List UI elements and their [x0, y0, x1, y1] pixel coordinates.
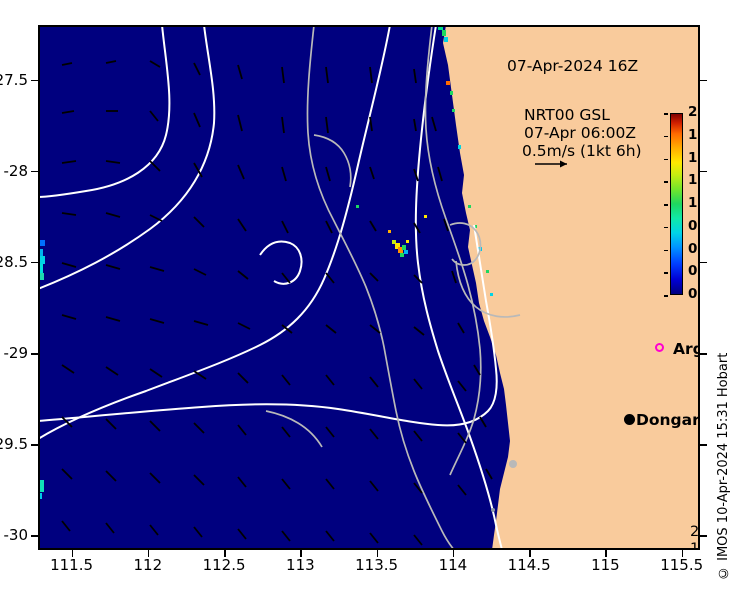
x-tick-label: 112 — [113, 556, 183, 574]
x-tick-label: 112.5 — [189, 556, 259, 574]
dongara-marker-icon — [624, 414, 635, 425]
colorbar-tick — [664, 181, 668, 183]
gsl-time-label: 07-Apr 06:00Z — [524, 124, 636, 142]
x-tick-label: 115 — [570, 556, 640, 574]
y-tick-right — [700, 353, 707, 355]
colorbar-tick — [664, 295, 668, 297]
y-tick — [31, 535, 38, 537]
plot-frame-bottom — [38, 548, 700, 550]
date-stamp: 07-Apr-2024 16Z — [507, 57, 638, 75]
y-tick-label: -28 — [0, 162, 28, 180]
colorbar-gradient — [670, 113, 683, 295]
obs-dot — [491, 508, 495, 512]
y-tick-label: -28.5 — [0, 253, 28, 271]
colorbar-tick — [664, 227, 668, 229]
colorbar-tick — [664, 136, 668, 138]
y-tick-right — [700, 171, 707, 173]
gsl-product-label: NRT00 GSL — [524, 106, 610, 124]
sst-age-map[interactable]: 07-Apr-2024 16Z NRT00 GSL 07-Apr 06:00Z … — [38, 25, 700, 550]
x-tick-label: 115.5 — [647, 556, 717, 574]
y-tick — [31, 262, 38, 264]
colorbar-tick-label: 1 — [688, 195, 697, 211]
vector-scale-arrow-icon — [535, 157, 575, 171]
colorbar-tick — [664, 159, 668, 161]
plot-frame-left — [38, 25, 40, 550]
x-tick-label: 114.5 — [494, 556, 564, 574]
y-tick — [31, 353, 38, 355]
argo-legend-label: Argo — [673, 340, 700, 358]
colorbar-tick-label: 0 — [688, 286, 697, 302]
y-tick-right — [700, 80, 707, 82]
map-graphics — [38, 25, 700, 550]
x-tick-label: 113 — [265, 556, 335, 574]
x-tick-label: 111.5 — [37, 556, 107, 574]
argo-marker-icon — [655, 343, 664, 352]
plot-frame-right — [698, 25, 700, 550]
y-tick-label: -29.5 — [0, 435, 28, 453]
y-tick — [31, 171, 38, 173]
colorbar-tick — [664, 272, 668, 274]
y-tick-right — [700, 444, 707, 446]
colorbar-tick — [664, 204, 668, 206]
figure-canvas: 07-Apr-2024 16Z NRT00 GSL 07-Apr 06:00Z … — [0, 0, 740, 592]
y-tick-right — [700, 535, 707, 537]
colorbar-tick-label: 2 — [688, 104, 697, 120]
y-tick-label: -30 — [0, 526, 28, 544]
y-tick — [31, 80, 38, 82]
ocean-sst-age-field — [38, 25, 510, 550]
dongara-city-label: Dongara — [636, 411, 700, 429]
y-tick-label: -27.5 — [0, 71, 28, 89]
y-tick-right — [700, 262, 707, 264]
copyright-notice: © IMOS 10-Apr-2024 15:31 Hobart — [716, 330, 736, 580]
colorbar-tick — [664, 250, 668, 252]
obs-dot — [509, 460, 517, 468]
plot-frame-top — [38, 25, 700, 27]
y-tick — [31, 444, 38, 446]
colorbar-tick — [664, 113, 668, 115]
x-tick-label: 114 — [418, 556, 488, 574]
x-tick-label: 113.5 — [342, 556, 412, 574]
y-tick-label: -29 — [0, 344, 28, 362]
